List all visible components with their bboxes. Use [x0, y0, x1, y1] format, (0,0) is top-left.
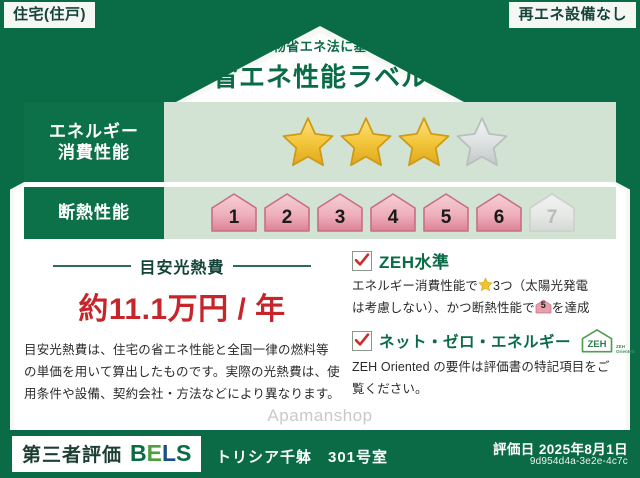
bels-letter-l: L [162, 440, 176, 466]
zeh-standard-block: ZEH水準 エネルギー消費性能で3つ（太陽光発電 は考慮しない）、かつ断熱性能で… [352, 248, 612, 319]
inline-house-icon: 5 [535, 299, 552, 314]
net-zero-block: ネット・ゼロ・エネルギー ZEH ZEH Oriented [352, 328, 612, 400]
inline-house-level: 5 [535, 298, 552, 313]
star-filled-icon [396, 115, 452, 169]
insulation-label-text: 断熱性能 [58, 202, 130, 223]
zeh-standard-title-line: ZEH水準 [352, 248, 612, 273]
property-name: トリシア千躰 301号室 [216, 446, 388, 467]
inline-star-icon [478, 277, 493, 292]
utility-cost-heading: 目安光熱費 [24, 254, 340, 278]
insulation-level-house: 1 [209, 192, 259, 234]
zeh-logo-caption-2: Oriented [616, 349, 635, 354]
net-zero-title: ネット・ゼロ・エネルギー [379, 330, 571, 352]
watermark: Apamanshop [0, 406, 640, 426]
check-icon [354, 252, 370, 268]
insulation-levels-body: 1234567 [164, 187, 616, 239]
zeh-desc-star-count: 3つ（太陽光発電 [493, 279, 588, 293]
badge-building-type: 住宅(住戸) [4, 2, 95, 28]
zeh-logo: ZEH ZEH Oriented [580, 328, 635, 354]
badge-renewable-equipment: 再エネ設備なし [509, 2, 636, 28]
insulation-level-house: 4 [368, 192, 418, 234]
bels-letter-b: B [130, 440, 147, 466]
insulation-level-number: 5 [421, 207, 471, 229]
energy-stars-body [164, 102, 616, 182]
insulation-level-house: 5 [421, 192, 471, 234]
star-rating [280, 115, 510, 169]
net-zero-title-line: ネット・ゼロ・エネルギー ZEH ZEH Oriented [352, 328, 612, 354]
insulation-level-number: 3 [315, 207, 365, 229]
insulation-level-number: 2 [262, 207, 312, 229]
svg-text:ZEH: ZEH [587, 339, 606, 350]
energy-consumption-label: エネルギー 消費性能 [24, 102, 164, 182]
utility-cost-value: 約11.1万円 / 年 [24, 284, 340, 328]
bels-logo: BELS [130, 440, 191, 467]
zeh-standard-description: エネルギー消費性能で3つ（太陽光発電 は考慮しない）、かつ断熱性能で5を達成 [352, 276, 612, 319]
insulation-level-number: 4 [368, 207, 418, 229]
star-filled-icon [280, 115, 336, 169]
insulation-level-scale: 1234567 [209, 192, 577, 234]
energy-performance-label: 住宅(住戸) 再エネ設備なし 建築物省エネ法に基づく 省エネ性能ラベル エネルギ… [0, 0, 640, 478]
checkbox-net-zero[interactable] [352, 331, 372, 351]
bels-letter-e: E [147, 440, 162, 466]
evaluation-id: 9d954d4a-3e2e-4c7c [530, 456, 628, 467]
heading-rule-right [233, 265, 311, 267]
energy-consumption-row: エネルギー 消費性能 [24, 102, 616, 182]
bels-badge-jp: 第三者評価 [22, 440, 122, 467]
heading-rule-left [53, 265, 131, 267]
insulation-level-house: 6 [474, 192, 524, 234]
insulation-level-number: 7 [527, 207, 577, 229]
energy-label-line2: 消費性能 [58, 142, 130, 163]
footer-bar: 第三者評価 BELS トリシア千躰 301号室 評価日 2025年8月1日 9d… [0, 430, 640, 478]
insulation-label: 断熱性能 [24, 187, 164, 239]
zeh-logo-caption: ZEH Oriented [616, 344, 635, 354]
star-empty-icon [454, 115, 510, 169]
insulation-row: 断熱性能 1234567 [24, 187, 616, 239]
utility-cost-heading-text: 目安光熱費 [139, 254, 224, 278]
insulation-level-house: 2 [262, 192, 312, 234]
energy-label-line1: エネルギー [49, 121, 139, 142]
utility-cost-section: 目安光熱費 約11.1万円 / 年 目安光熱費は、住宅の省エネ性能と全国一律の燃… [24, 248, 340, 409]
zeh-standard-title: ZEH水準 [379, 248, 450, 273]
utility-cost-note: 目安光熱費は、住宅の省エネ性能と全国一律の燃料等の単価を用いて算出したものです。… [24, 340, 340, 406]
insulation-level-house: 7 [527, 192, 577, 234]
checkbox-zeh-standard[interactable] [352, 251, 372, 271]
insulation-level-house: 3 [315, 192, 365, 234]
insulation-level-number: 1 [209, 207, 259, 229]
zeh-desc-part2: は考慮しない）、かつ断熱性能で [352, 301, 535, 315]
check-icon [354, 332, 370, 348]
zeh-desc-part3: を達成 [552, 301, 590, 315]
zeh-desc-part1: エネルギー消費性能で [352, 279, 478, 293]
net-zero-description: ZEH Oriented の要件は評価書の特記項目をご覧ください。 [352, 357, 612, 400]
bels-letter-s: S [176, 440, 191, 466]
zeh-section: ZEH水準 エネルギー消費性能で3つ（太陽光発電 は考慮しない）、かつ断熱性能で… [352, 248, 612, 409]
star-filled-icon [338, 115, 394, 169]
zeh-house-icon: ZEH [580, 328, 614, 354]
performance-panel: エネルギー 消費性能 断熱性能 1234567 目安光熱費 [24, 102, 616, 412]
lower-content: 目安光熱費 約11.1万円 / 年 目安光熱費は、住宅の省エネ性能と全国一律の燃… [24, 248, 616, 409]
evaluation-date: 評価日 2025年8月1日 [493, 438, 628, 458]
insulation-level-number: 6 [474, 207, 524, 229]
bels-badge: 第三者評価 BELS [12, 436, 201, 472]
